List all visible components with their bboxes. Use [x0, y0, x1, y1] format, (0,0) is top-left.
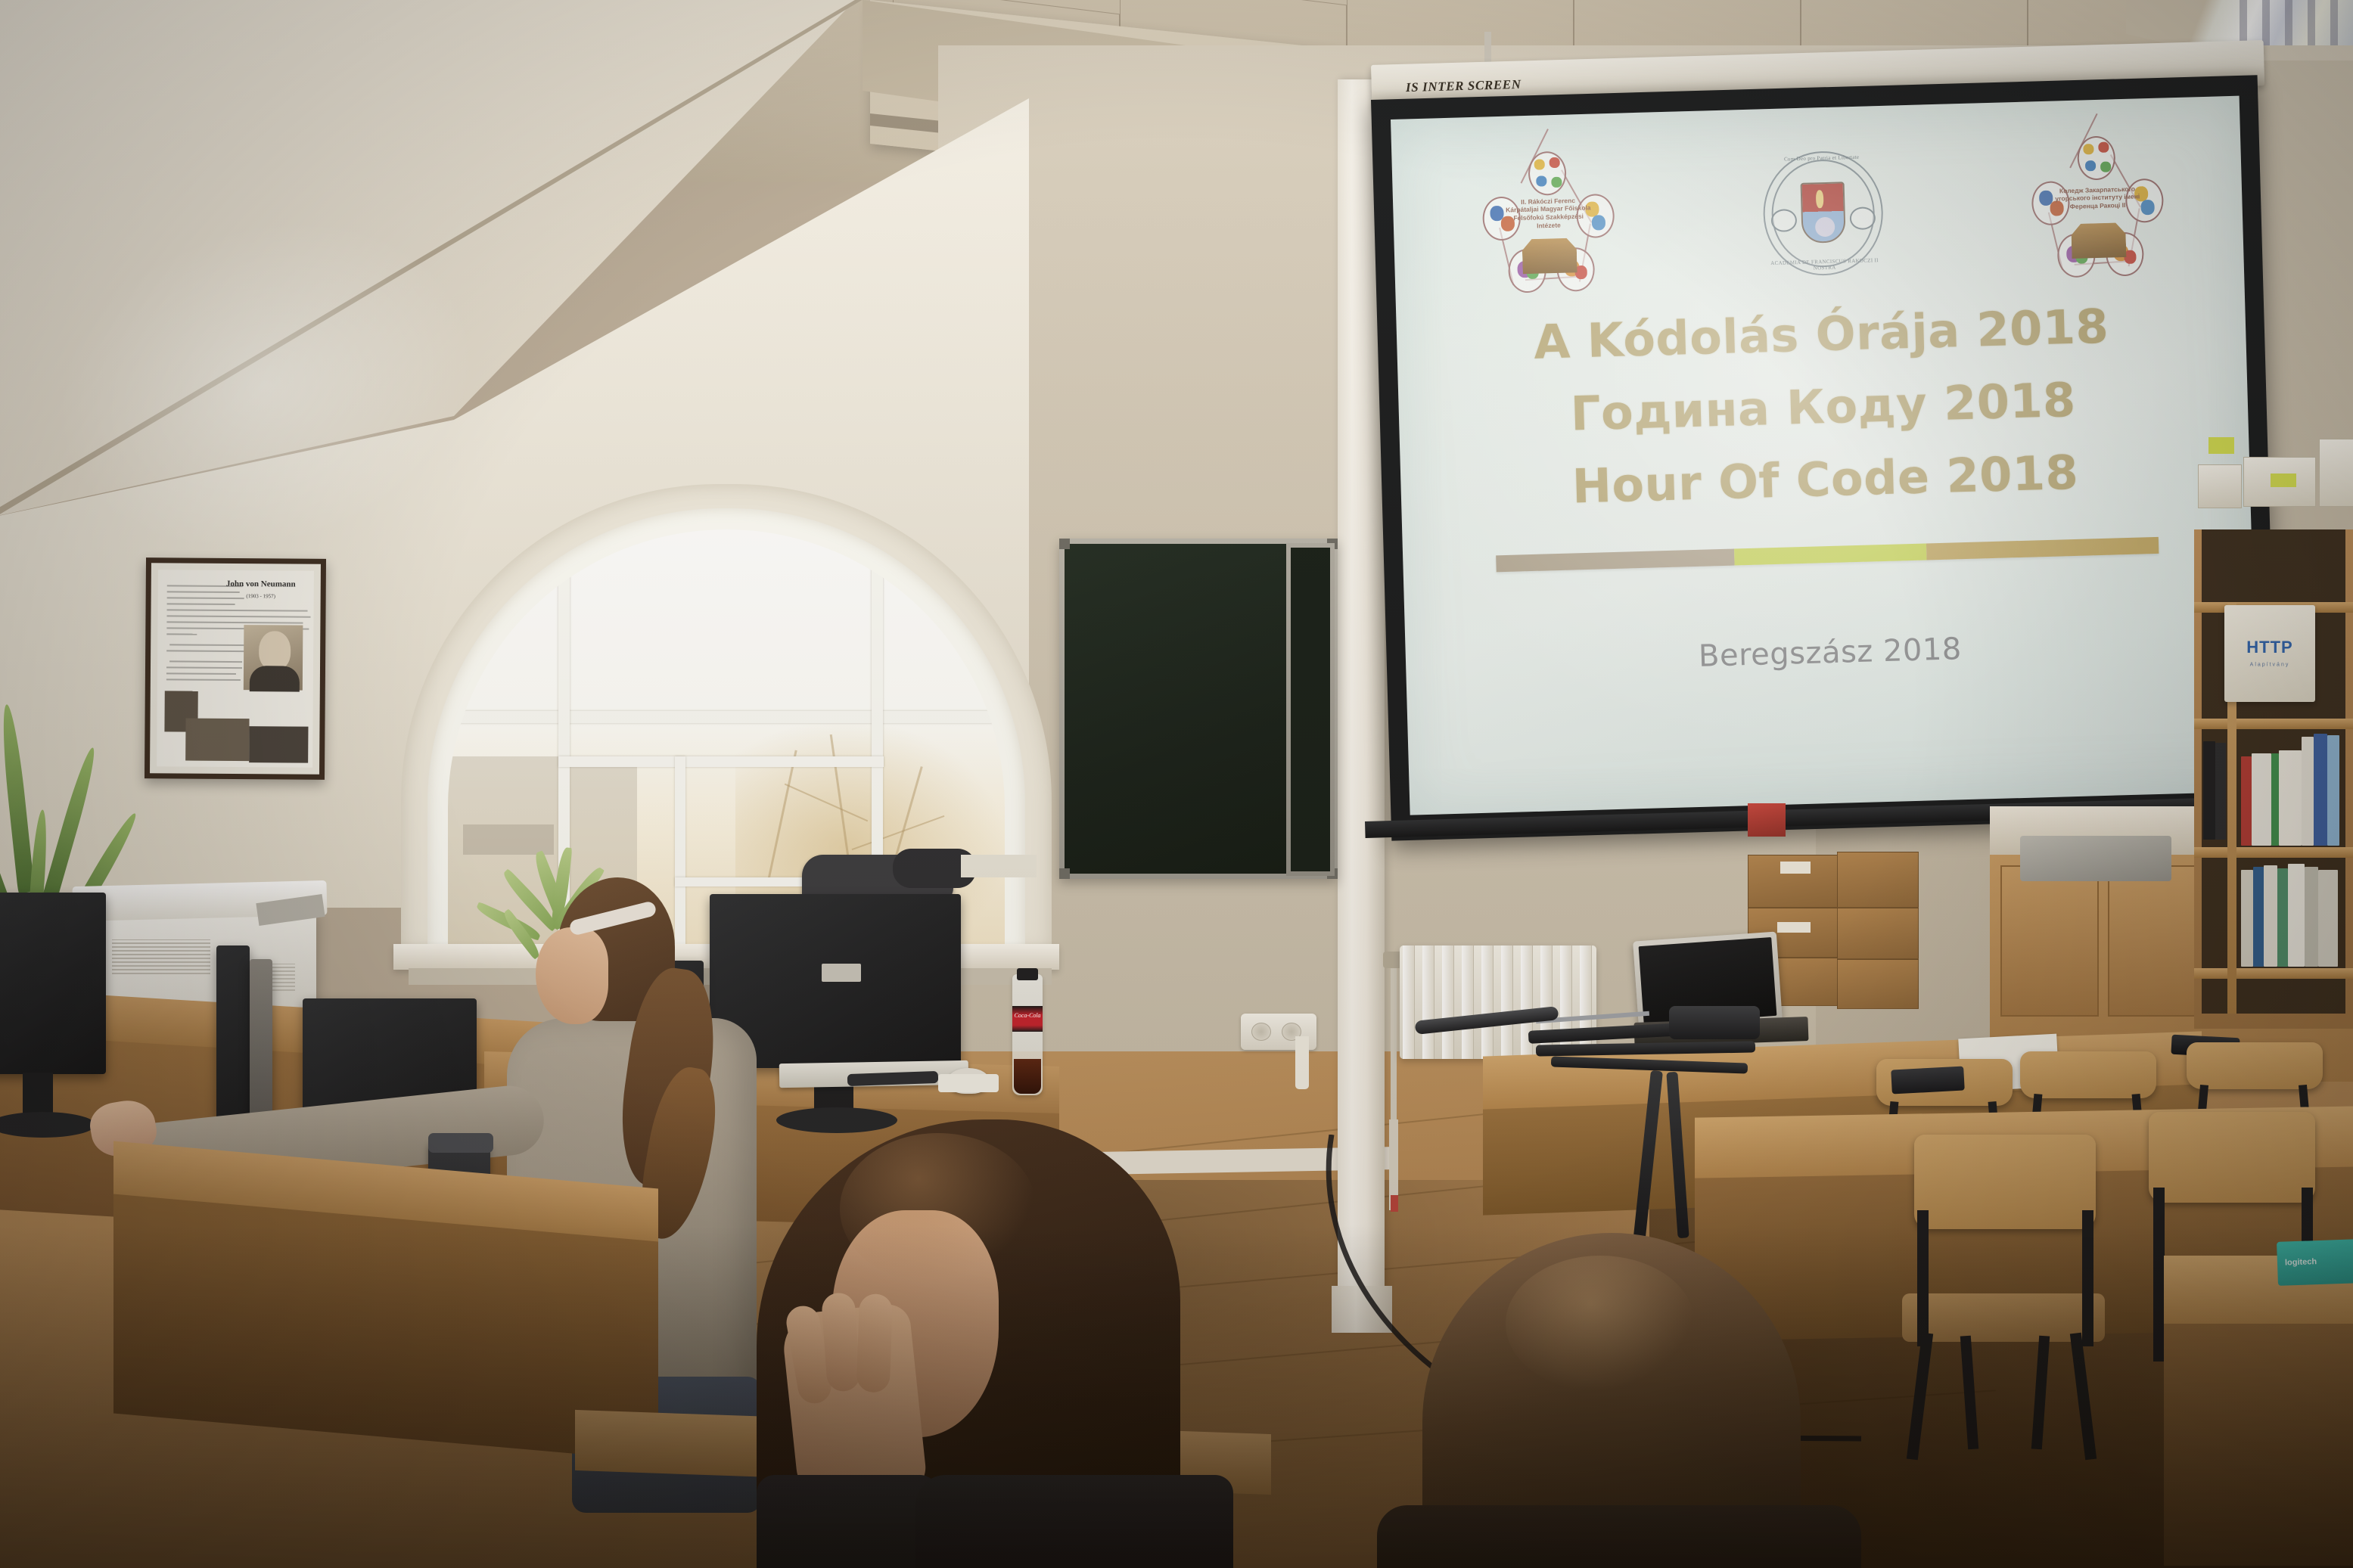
- poster-mat: John von Neumann (1903 - 1957): [150, 563, 321, 775]
- rakoczi-coat-of-arms-icon: Cum Deo pro Patria et Libertate ACADEMIA…: [1761, 150, 1885, 277]
- shelf-boxes: [2198, 431, 2353, 537]
- logitech-box: logitech: [2277, 1239, 2353, 1286]
- radiator-pipe-marker: [1391, 1195, 1398, 1212]
- divider-segment-2: [1734, 544, 1927, 566]
- papers-on-sill: [961, 855, 1037, 877]
- slide-titles: A Kódolás Órája 2018 Година Коду 2018 Ho…: [1441, 287, 2205, 526]
- poster-sheet: John von Neumann (1903 - 1957): [157, 570, 314, 767]
- grey-paper-stack: [2020, 836, 2171, 881]
- crest-motto-bottom: ACADEMIA DE FRANCISCUS RAKOCZI II NOSTRA: [1764, 257, 1884, 272]
- radiator-pipe: [1391, 962, 1397, 1136]
- john-von-neumann-poster: John von Neumann (1903 - 1957): [145, 557, 326, 780]
- divider-segment-1: [1496, 549, 1735, 573]
- mouse-pad: [938, 1074, 999, 1092]
- slide-footer: Beregszász 2018: [1450, 625, 2209, 681]
- red-box: [1748, 803, 1786, 837]
- smartphone[interactable]: [1891, 1067, 1965, 1094]
- pillar-base: [1332, 1286, 1392, 1333]
- chalkboard-side-surface: [1291, 548, 1330, 871]
- tote-bag: HTTP Alapítvány: [2224, 605, 2315, 702]
- coca-cola-label: Coca-Cola: [1012, 1006, 1043, 1032]
- student-c-shoulder: [1377, 1505, 1861, 1568]
- classroom-photo: IS INTER SCREEN: [0, 0, 2353, 1568]
- logo-house-icon-2: [2071, 222, 2126, 259]
- tripod: [1528, 1025, 1846, 1252]
- slide: II. Rákóczi Ferenc Kárpátaljai Magyar Fő…: [1391, 96, 2258, 815]
- bottle-cap: [1017, 968, 1038, 980]
- logo-text-ua: Коледж Закарпатського угорського інститу…: [2053, 185, 2142, 211]
- coca-cola-bottle[interactable]: [1012, 974, 1043, 1095]
- coca-cola-text: Coca-Cola: [1012, 1012, 1043, 1019]
- student-c-hair-highlight: [1506, 1256, 1695, 1392]
- student-b-hand: [780, 1303, 928, 1504]
- student-b-sleeve: [757, 1475, 938, 1568]
- divider-segment-3: [1926, 537, 2159, 560]
- bookcase: [2194, 529, 2353, 1029]
- logo-house-icon: [1522, 238, 1577, 275]
- chalkboard-side-panel: [1286, 543, 1335, 876]
- student-b-hair-highlight: [840, 1133, 1037, 1284]
- rakoczi-college-logo-ua-icon: Коледж Закарпатського угорського інститу…: [2027, 134, 2168, 278]
- poster-portrait: [244, 625, 303, 691]
- desk-front: [2164, 1316, 2353, 1566]
- logitech-label: logitech: [2285, 1257, 2317, 1267]
- slide-logo-row: II. Rákóczi Ferenc Kárpátaljai Magyar Fő…: [1437, 123, 2199, 295]
- screen-brand-label: IS INTER SCREEN: [1406, 77, 1522, 95]
- logo-text-hu: II. Rákóczi Ferenc Kárpátaljai Magyar Fő…: [1504, 196, 1593, 231]
- student-foreground: [726, 1119, 1241, 1568]
- poster-title: John von Neumann: [216, 579, 306, 589]
- tripod-head: [1669, 1006, 1760, 1039]
- projector-screen-surface: II. Rákóczi Ferenc Kárpátaljai Magyar Fő…: [1391, 96, 2258, 815]
- travel-mug-lid: [428, 1133, 493, 1153]
- tote-bag-logo: HTTP: [2246, 638, 2292, 657]
- tote-bag-sublabel: Alapítvány: [2250, 663, 2290, 668]
- student-a-face: [536, 927, 608, 1024]
- outlet-plug: [1295, 1036, 1309, 1089]
- rakoczi-college-logo-hu-icon: II. Rákóczi Ferenc Kárpátaljai Magyar Fő…: [1478, 150, 1619, 294]
- chair[interactable]: [1891, 1135, 2111, 1460]
- student-bottom-right: [1422, 1233, 1816, 1568]
- slide-divider-bar: [1496, 537, 2159, 572]
- student-b-shoulder: [915, 1475, 1233, 1568]
